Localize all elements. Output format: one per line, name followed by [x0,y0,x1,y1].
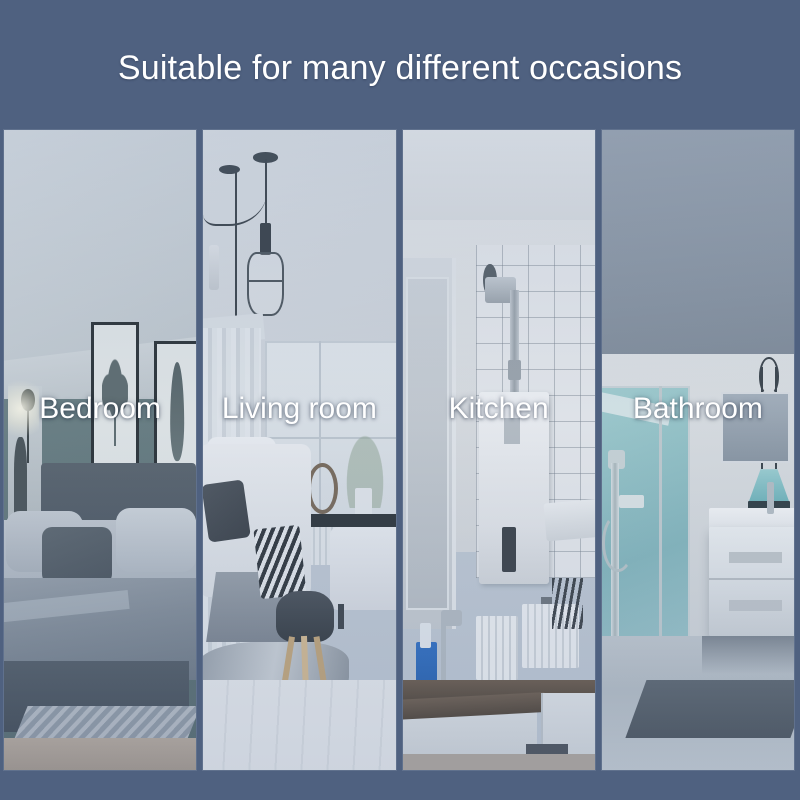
door-panel [406,277,448,610]
knife-block-icon [552,578,583,629]
detergent-cap [420,623,432,649]
basin-tap-icon [767,482,774,514]
doorway-object [14,437,27,520]
dish-rack-left [476,616,518,680]
panel-label-living-room: Living room [203,392,395,426]
bathroom-photo [602,130,794,770]
occasion-panel-kitchen[interactable]: Kitchen [403,130,595,770]
shower-shelf [619,495,644,508]
page-title: Suitable for many different occasions [0,48,800,88]
panel-label-kitchen: Kitchen [403,392,595,426]
striped-cushion [254,525,307,600]
decor-wreath-icon [307,463,338,514]
range-hood [543,499,595,542]
plank-floor [203,680,395,770]
panel-label-bedroom: Bedroom [4,392,196,426]
drawer-divider [709,578,794,580]
pillow-right [116,508,197,572]
dark-throw-pillow [203,479,251,542]
pendant-cord-right [265,159,267,229]
bedroom-photo [4,130,196,770]
flue-joint [508,360,520,379]
occasion-panel-living-room[interactable]: Living room [203,130,395,770]
kitchen-photo [403,130,595,770]
living-room-photo [203,130,395,770]
kitchen-floor [403,754,595,770]
shelf [303,514,395,527]
occasion-panel-bathroom[interactable]: Bathroom [602,130,794,770]
heater-control-panel [502,527,515,572]
pendant-cap-right [260,223,271,255]
flue-pipe-vertical [510,290,519,399]
second-sofa [330,527,395,610]
occasion-panel-bedroom[interactable]: Bedroom [4,130,196,770]
floor-mat [626,680,794,738]
accent-cushion [42,527,111,585]
drawer-handle-top [729,552,783,562]
panel-label-bathroom: Bathroom [602,392,794,426]
vanity-unit [709,527,794,636]
drawer-handle-bottom [729,600,783,610]
cage-crossbar [247,280,284,282]
hanging-bulb-icon [209,245,219,290]
occasion-panel-strip: Bedroom [4,130,794,770]
ceiling [403,130,595,232]
ceiling [602,130,794,367]
stool-seat [276,591,334,642]
sofa-leg [338,604,344,630]
cage-pendant-lamp-icon [247,252,284,316]
wood-floor [4,738,196,770]
vanity-shadow [702,636,794,674]
promo-banner: Suitable for many different occasions [0,0,800,800]
shower-hose [602,514,635,572]
